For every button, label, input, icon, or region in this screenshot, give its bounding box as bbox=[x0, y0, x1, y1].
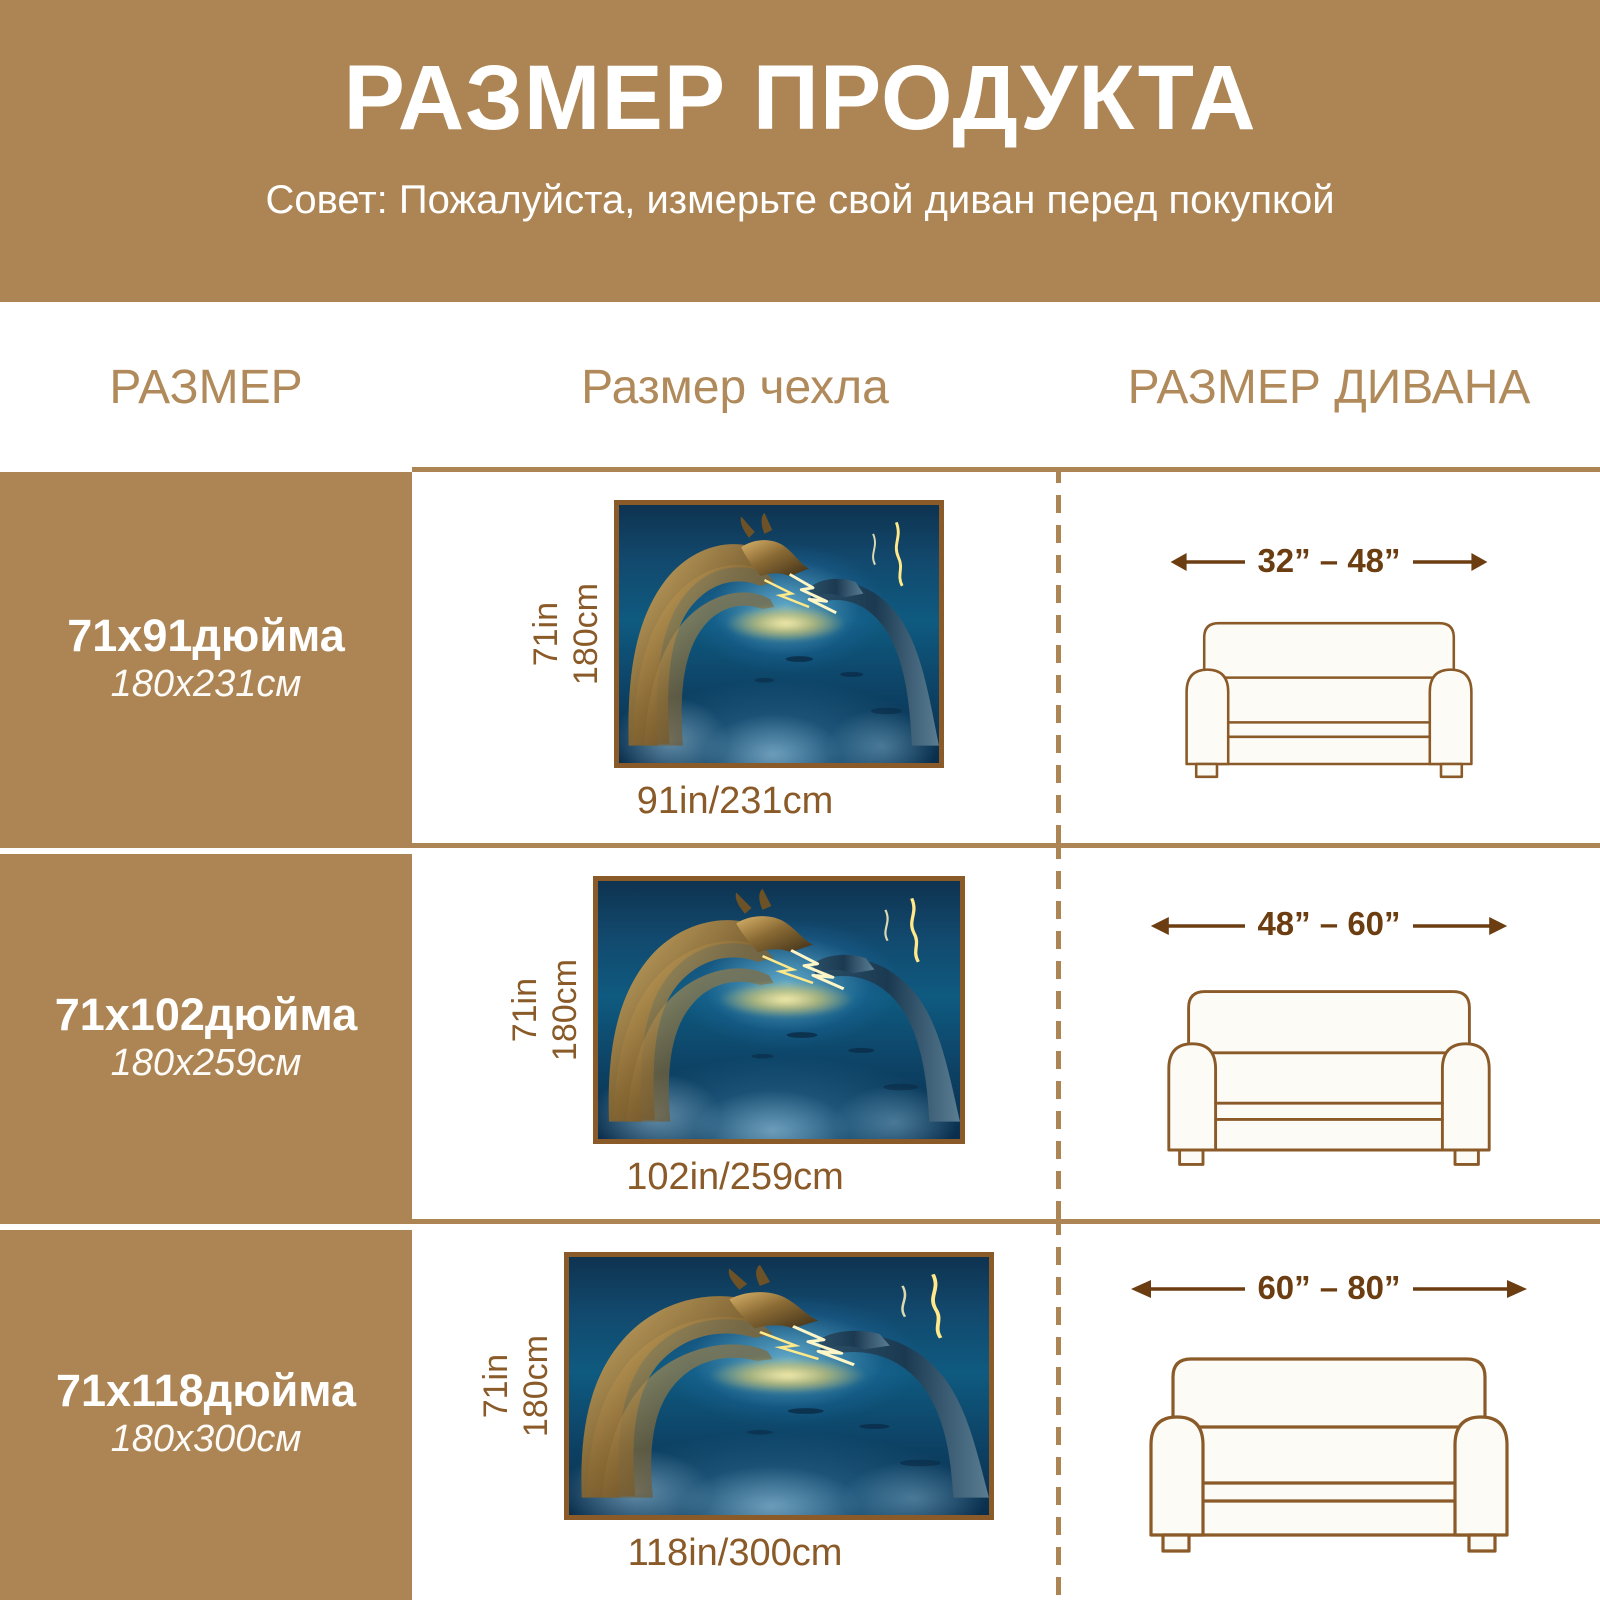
size-centimeters-label: 180x300см bbox=[111, 1416, 302, 1464]
cell-cover-size: 71in 180cm bbox=[412, 848, 1058, 1224]
size-centimeters-label: 180x231см bbox=[111, 661, 302, 709]
cover-height-centimeters-label: 180cm bbox=[516, 1335, 556, 1437]
cover-height-inches-label: 71in bbox=[476, 1354, 516, 1418]
cell-cover-size: 71in 180cm bbox=[412, 472, 1058, 848]
column-headers-row: РАЗМЕР Размер чехла РАЗМЕР ДИВАНА bbox=[0, 302, 1600, 472]
sofa-width-dimension: 32” – 48” bbox=[1169, 532, 1489, 588]
size-inches-label: 71x118дюйма bbox=[56, 1367, 356, 1416]
cover-height-inches-label: 71in bbox=[526, 602, 566, 666]
cover-height-labels: 71in 180cm bbox=[526, 583, 606, 685]
cover-width-label: 91in/231cm bbox=[637, 782, 833, 820]
size-inches-label: 71x102дюйма bbox=[55, 991, 358, 1040]
cell-size: 71x91дюйма 180x231см bbox=[0, 472, 412, 848]
table-row: 71x102дюйма 180x259см 71in 180cm bbox=[0, 848, 1600, 1224]
cover-height-centimeters-label: 180cm bbox=[545, 959, 585, 1061]
sofa-width-label: 60” – 80” bbox=[1245, 1271, 1412, 1304]
table-row: 71x118дюйма 180x300см 71in 180cm bbox=[0, 1224, 1600, 1600]
column-header-cover-size: Размер чехла bbox=[412, 360, 1058, 415]
cell-sofa-size: 32” – 48” bbox=[1058, 472, 1600, 848]
sofa-diagram-icon bbox=[1169, 588, 1489, 788]
artwork-preview bbox=[564, 1252, 994, 1520]
cell-sofa-size: 48” – 60” bbox=[1058, 848, 1600, 1224]
cover-height-labels: 71in 180cm bbox=[476, 1335, 556, 1437]
artwork-lightning-glow bbox=[702, 598, 868, 650]
header-banner: РАЗМЕР ПРОДУКТА Совет: Пожалуйста, измер… bbox=[0, 0, 1600, 302]
cover-width-label: 118in/300cm bbox=[628, 1534, 843, 1572]
cell-size: 71x118дюйма 180x300см bbox=[0, 1224, 412, 1600]
size-table: 71x91дюйма 180x231см 71in 180cm bbox=[0, 472, 1600, 1600]
sofa-diagram-icon bbox=[1129, 1315, 1529, 1565]
table-row: 71x91дюйма 180x231см 71in 180cm bbox=[0, 472, 1600, 848]
page-subtitle: Совет: Пожалуйста, измерьте свой диван п… bbox=[265, 180, 1334, 220]
cover-height-inches-label: 71in bbox=[505, 978, 545, 1042]
artwork-preview bbox=[614, 500, 944, 768]
sofa-width-dimension: 60” – 80” bbox=[1129, 1259, 1529, 1315]
cover-height-centimeters-label: 180cm bbox=[566, 583, 606, 685]
artwork-lightning-glow bbox=[678, 1350, 896, 1402]
cell-cover-size: 71in 180cm bbox=[412, 1224, 1058, 1600]
artwork-preview bbox=[593, 876, 965, 1144]
sofa-diagram-icon bbox=[1149, 952, 1509, 1177]
column-header-sofa-size: РАЗМЕР ДИВАНА bbox=[1058, 360, 1600, 415]
page-title: РАЗМЕР ПРОДУКТА bbox=[343, 52, 1256, 144]
cell-sofa-size: 60” – 80” bbox=[1058, 1224, 1600, 1600]
sofa-width-label: 32” – 48” bbox=[1245, 544, 1412, 577]
cover-height-labels: 71in 180cm bbox=[505, 959, 585, 1061]
size-centimeters-label: 180x259см bbox=[111, 1040, 302, 1088]
column-header-size: РАЗМЕР bbox=[0, 360, 412, 415]
sofa-width-dimension: 48” – 60” bbox=[1149, 896, 1509, 952]
artwork-lightning-glow bbox=[692, 974, 880, 1026]
sofa-width-label: 48” – 60” bbox=[1245, 907, 1412, 940]
cell-size: 71x102дюйма 180x259см bbox=[0, 848, 412, 1224]
size-inches-label: 71x91дюйма bbox=[67, 612, 345, 661]
cover-width-label: 102in/259cm bbox=[626, 1158, 844, 1196]
